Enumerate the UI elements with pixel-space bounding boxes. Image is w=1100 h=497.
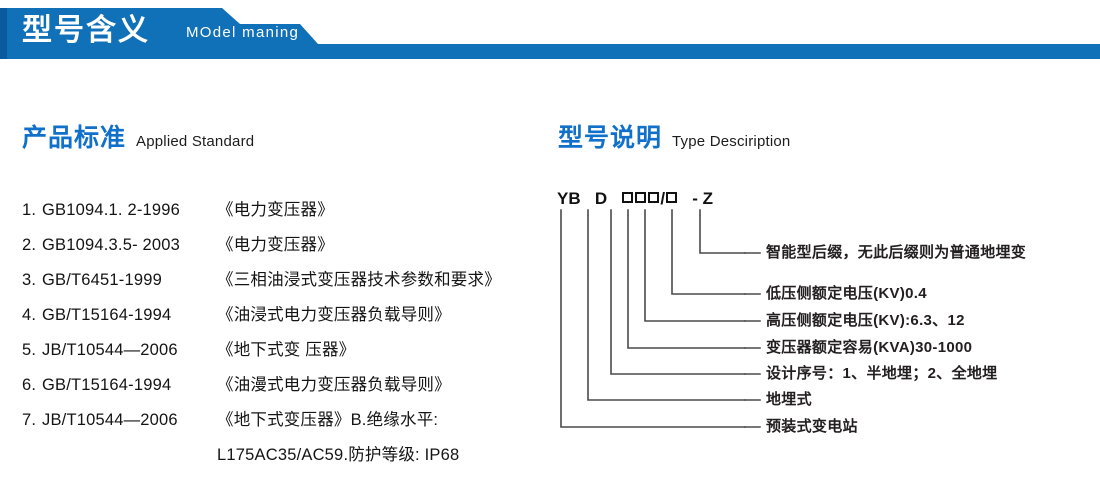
page-header-banner: 型号含义 MOdel maning	[0, 8, 1100, 59]
standard-number: 2.	[22, 228, 42, 263]
list-item: 7.JB/T10544—2006《地下式变压器》B.绝缘水平:	[22, 403, 542, 438]
section-heading-applied-standard: 产品标准Applied Standard	[22, 118, 254, 154]
list-item: 2.GB1094.3.5- 2003《电力变压器》	[22, 228, 542, 263]
standard-name: 《地下式变压器》B.绝缘水平:	[217, 403, 438, 438]
standard-code: GB/T15164-1994	[42, 368, 217, 403]
label-lv-rated-voltage: 低压侧额定电压(KV)0.4	[766, 286, 927, 302]
label-prefab-substation: 预装式变电站	[766, 419, 858, 435]
standard-name: 《地下式变 压器》	[217, 333, 355, 368]
list-item: 3.GB/T6451-1999《三相油浸式变压器技术参数和要求》	[22, 263, 542, 298]
list-item: 6.GB/T15164-1994《油漫式电力变压器负载导则》	[22, 368, 542, 403]
section-heading-applied-standard-cn: 产品标准	[22, 124, 126, 152]
standard-code: JB/T10544—2006	[42, 403, 217, 438]
section-heading-type-description-cn: 型号说明	[558, 124, 662, 152]
standard-number: 4.	[22, 298, 42, 333]
label-smart-suffix: 智能型后缀，无此后缀则为普通地埋变	[766, 245, 1026, 261]
list-item: 1.GB1094.1. 2-1996《电力变压器》	[22, 193, 542, 228]
standard-code: GB1094.1. 2-1996	[42, 193, 217, 228]
banner-title-en: MOdel maning	[186, 22, 299, 44]
applied-standards-list: 1.GB1094.1. 2-1996《电力变压器》 2.GB1094.3.5- …	[22, 193, 542, 473]
standard-number: 5.	[22, 333, 42, 368]
standard-number: 7.	[22, 403, 42, 438]
standard-name: 《油漫式电力变压器负载导则》	[217, 368, 451, 403]
standard-name: 《电力变压器》	[217, 193, 334, 228]
standard-continuation-line: L175AC35/AC59.防护等级: IP68	[22, 438, 542, 473]
standard-name: 《油浸式电力变压器负载导则》	[217, 298, 451, 333]
standard-number: 3.	[22, 263, 42, 298]
label-buried-type: 地埋式	[766, 392, 812, 408]
label-rated-capacity: 变压器额定容易(KVA)30-1000	[766, 340, 972, 356]
list-item: 4.GB/T15164-1994《油浸式电力变压器负载导则》	[22, 298, 542, 333]
standard-name: 《三相油浸式变压器技术参数和要求》	[217, 263, 501, 298]
banner-title-cn: 型号含义	[22, 10, 150, 52]
standard-name: 《电力变压器》	[217, 228, 334, 263]
section-heading-type-description: 型号说明Type Desciription	[558, 118, 790, 154]
standard-code: GB/T6451-1999	[42, 263, 217, 298]
type-code-diagram: YB D / - Z	[548, 188, 1088, 443]
standard-number: 6.	[22, 368, 42, 403]
banner-shape	[0, 8, 1100, 59]
label-hv-rated-voltage: 高压侧额定电压(KV):6.3、12	[766, 313, 965, 329]
list-item: 5.JB/T10544—2006《地下式变 压器》	[22, 333, 542, 368]
standard-number: 1.	[22, 193, 42, 228]
label-design-serial: 设计序号：1、半地埋；2、全地埋	[766, 366, 998, 382]
standard-code: GB1094.3.5- 2003	[42, 228, 217, 263]
standard-code: GB/T15164-1994	[42, 298, 217, 333]
standard-code: JB/T10544—2006	[42, 333, 217, 368]
banner-left-accent-bar	[0, 8, 7, 59]
section-heading-type-description-en: Type Desciription	[672, 133, 790, 150]
section-heading-applied-standard-en: Applied Standard	[136, 133, 254, 150]
